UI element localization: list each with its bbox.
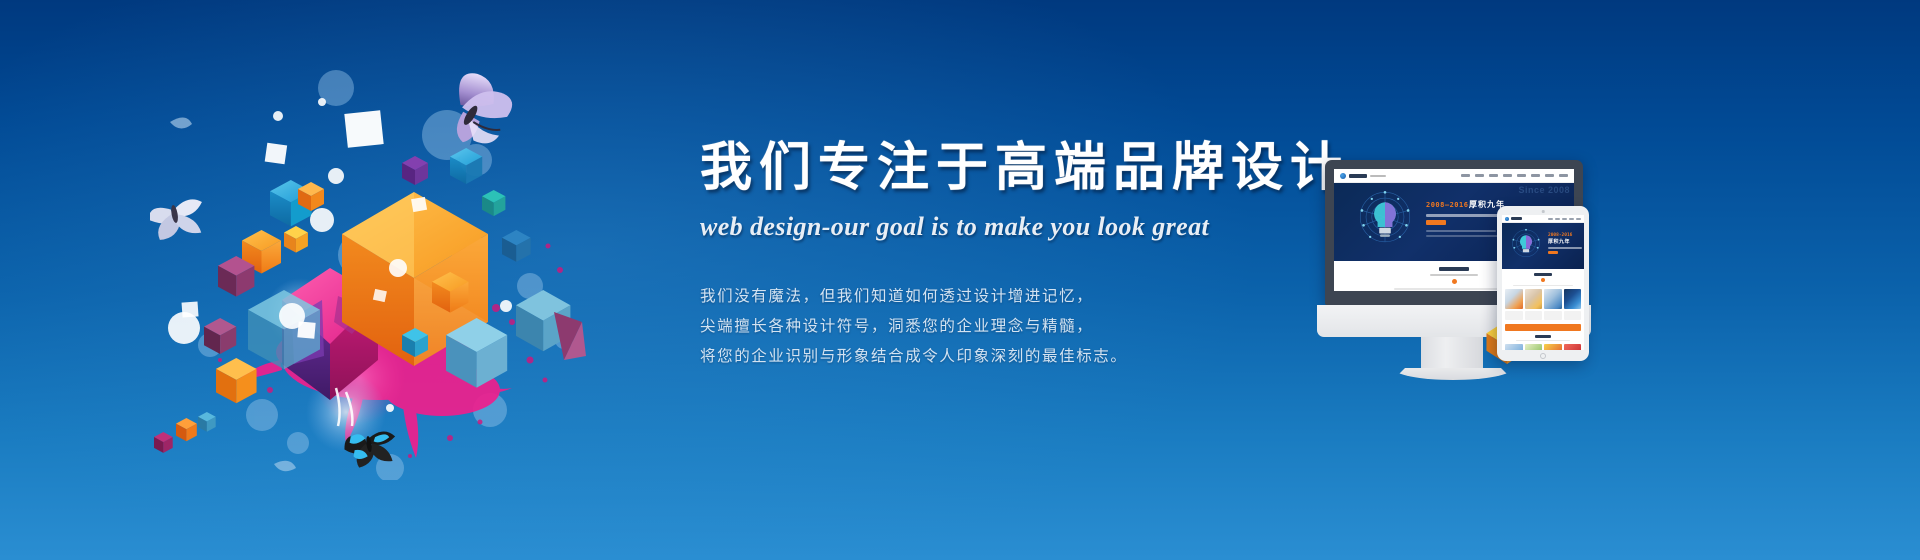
description-line-1: 我们没有魔法，但我们知道如何透过设计增进记忆，: [700, 282, 1300, 312]
caption-item: [1544, 311, 1562, 320]
caption-item: [1505, 311, 1523, 320]
site-logo-icon: [1340, 173, 1346, 179]
section-marker-dot: [1541, 278, 1545, 282]
thumbnail-item[interactable]: [1525, 344, 1543, 350]
nav-item: [1545, 174, 1554, 177]
nav-item: [1517, 174, 1526, 177]
hero-cta-button[interactable]: [1548, 251, 1558, 254]
nav-item: [1562, 218, 1567, 220]
tablet-camera-icon: [1542, 210, 1545, 213]
secondary-thumbnail-grid: [1505, 344, 1581, 350]
nav-item: [1489, 174, 1498, 177]
cta-banner[interactable]: [1505, 324, 1581, 331]
monitor-stand-neck: [1421, 337, 1483, 373]
section-divider: [1513, 285, 1573, 287]
nav-item: [1503, 174, 1512, 177]
site-logo-tagline: [1370, 175, 1386, 177]
site-logo-icon: [1505, 217, 1509, 221]
section-divider: [1516, 340, 1570, 342]
thumbnail-item[interactable]: [1505, 344, 1523, 350]
nav-item: [1569, 218, 1574, 220]
nav-item: [1555, 218, 1560, 220]
tablet-mockup: 2008-2016 厚积九年: [1497, 206, 1589, 361]
thumbnail-item[interactable]: [1544, 289, 1562, 309]
hero-slogan: 厚积九年: [1548, 238, 1582, 245]
thumbnail-item[interactable]: [1564, 344, 1582, 350]
hero-year-range: 2008—2016: [1426, 201, 1468, 209]
site-logo-wordmark: [1349, 174, 1367, 178]
site-nav-menu: [1548, 218, 1581, 220]
hero-banner: 我们专注于高端品牌设计 web design-our goal is to ma…: [0, 0, 1920, 560]
thumbnail-captions: [1505, 311, 1581, 320]
thumbnail-item[interactable]: [1505, 289, 1523, 309]
hero-text-line: [1548, 247, 1582, 249]
abstract-artwork: [150, 60, 630, 480]
thumbnail-grid: [1505, 289, 1581, 309]
nav-item: [1559, 174, 1568, 177]
description-paragraph: 我们没有魔法，但我们知道如何透过设计增进记忆， 尖端擅长各种设计符号，洞悉您的企…: [700, 282, 1300, 372]
nav-item: [1548, 218, 1553, 220]
lightbulb-network-graphic: [1352, 189, 1418, 255]
page-subheadline: web design-our goal is to make you look …: [700, 212, 1300, 242]
section-title: [1535, 335, 1551, 338]
hero-ghost-text: Since 2008: [1518, 185, 1570, 195]
section-title: [1439, 267, 1469, 271]
tablet-hero-banner: 2008-2016 厚积九年: [1502, 223, 1584, 269]
tablet-content-section: [1502, 269, 1584, 350]
caption-item: [1564, 311, 1582, 320]
description-line-2: 尖端擅长各种设计符号，洞悉您的企业理念与精髓，: [700, 312, 1300, 342]
nav-item: [1461, 174, 1470, 177]
section-divider: [1394, 288, 1514, 290]
hero-cta-button[interactable]: [1426, 220, 1446, 225]
thumbnail-item[interactable]: [1564, 289, 1582, 309]
section-title: [1534, 273, 1552, 276]
site-navbar: [1334, 169, 1574, 183]
caption-item: [1525, 311, 1543, 320]
thumbnail-item[interactable]: [1525, 289, 1543, 309]
tablet-site-navbar: [1502, 215, 1584, 223]
site-nav-menu: [1461, 174, 1568, 177]
lightbulb-network-graphic: [1508, 228, 1544, 264]
site-logo-wordmark: [1511, 217, 1522, 220]
description-line-3: 将您的企业识别与形象结合成令人印象深刻的最佳标志。: [700, 342, 1300, 372]
section-marker-dot: [1452, 279, 1457, 284]
nav-item: [1531, 174, 1540, 177]
hero-text-line: [1426, 230, 1496, 232]
device-mockups: Since 2008: [1325, 160, 1655, 390]
monitor-stand-base: [1393, 368, 1513, 380]
copy-block: 我们专注于高端品牌设计 web design-our goal is to ma…: [700, 140, 1300, 372]
section-subtitle: [1430, 274, 1478, 276]
tablet-screen: 2008-2016 厚积九年: [1502, 215, 1584, 350]
nav-item: [1475, 174, 1484, 177]
tablet-hero-text: 2008-2016 厚积九年: [1548, 233, 1582, 254]
nav-item: [1576, 218, 1581, 220]
thumbnail-item[interactable]: [1544, 344, 1562, 350]
page-headline: 我们专注于高端品牌设计: [700, 140, 1300, 196]
tablet-home-button[interactable]: [1540, 353, 1546, 359]
